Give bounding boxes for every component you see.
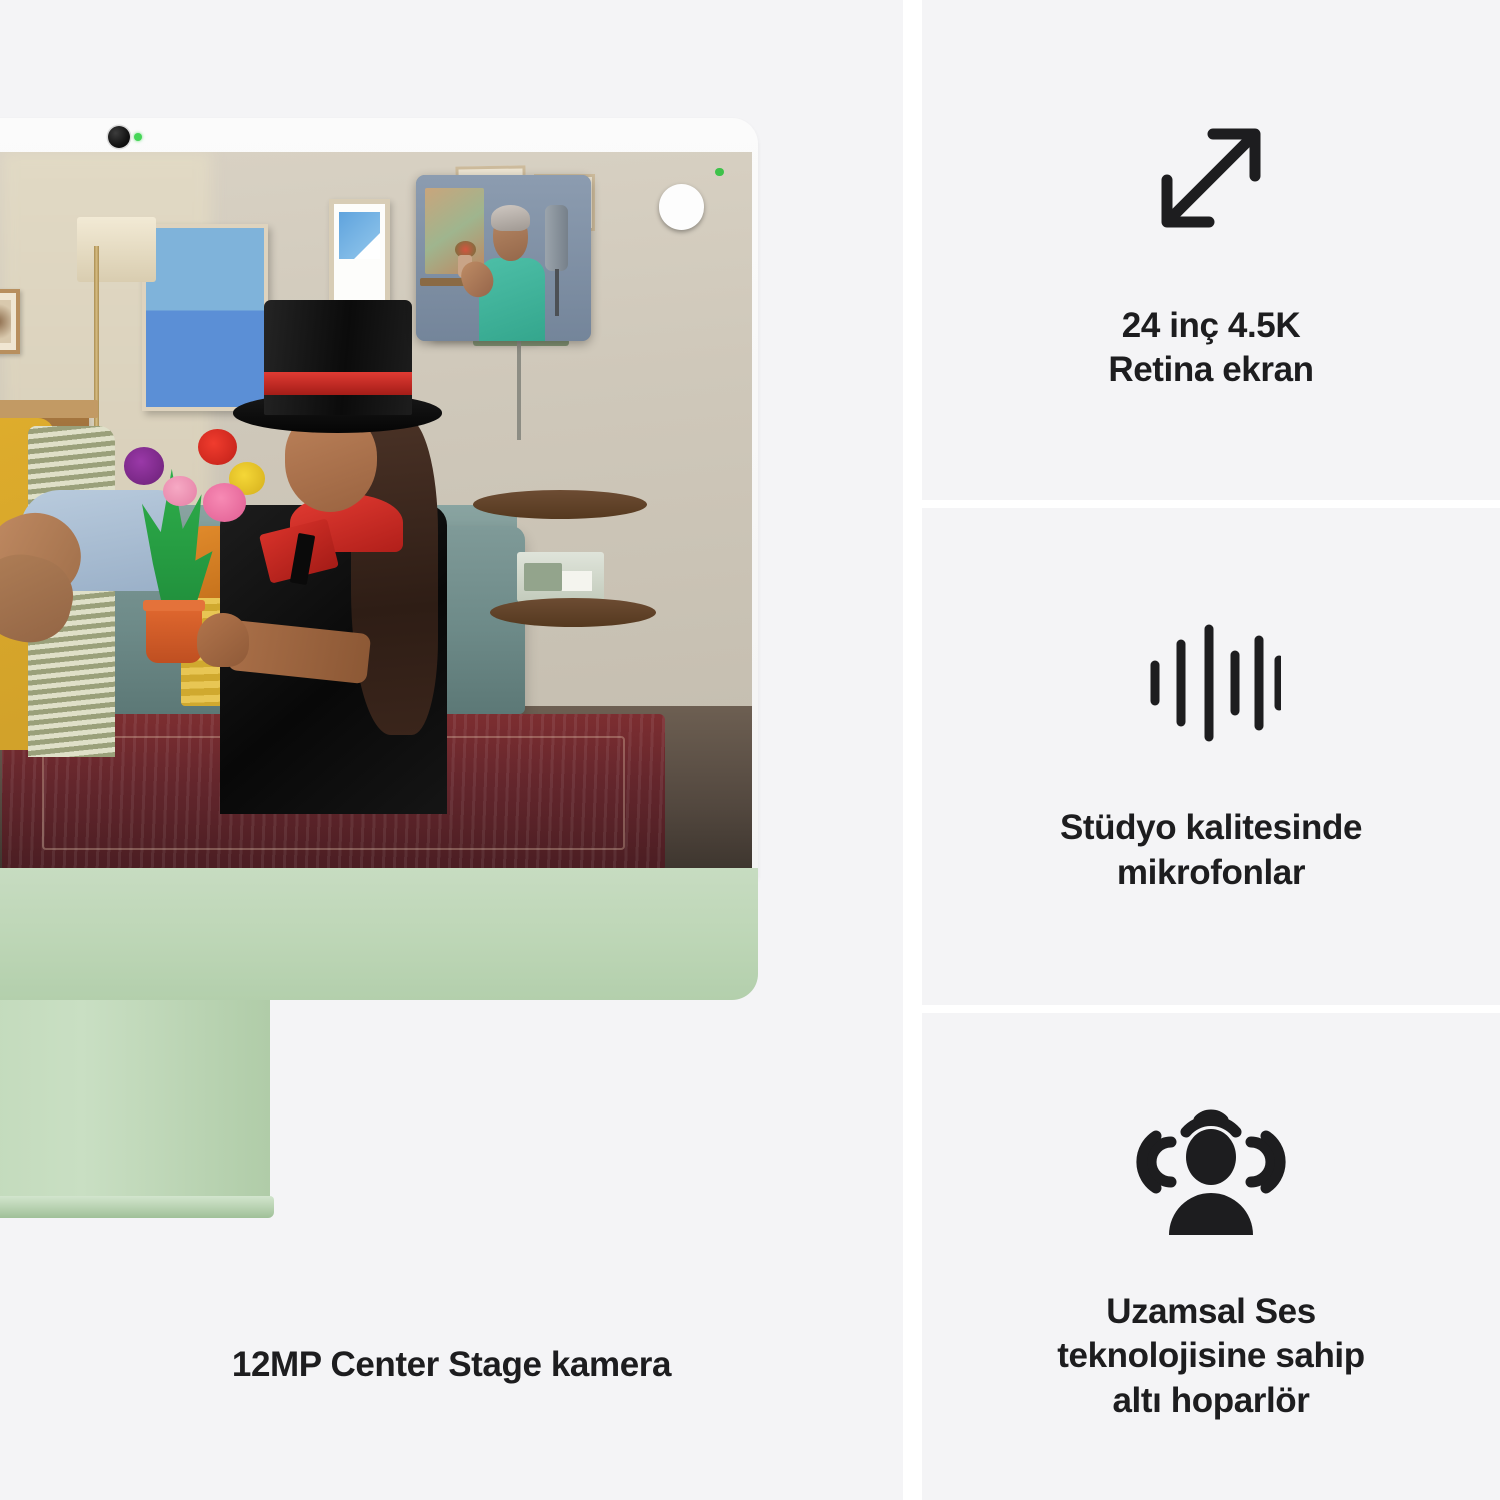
panel-display: 24 inç 4.5K Retina ekran xyxy=(922,0,1500,500)
pip-speaker xyxy=(545,205,568,271)
microphones-feature-line-1: Stüdyo kalitesinde xyxy=(1060,806,1362,850)
imac-bezel xyxy=(0,118,758,878)
display-feature-line-2: Retina ekran xyxy=(1108,348,1313,392)
diagonal-resize-arrow-icon xyxy=(1141,108,1281,248)
speakers-feature-line-3: altı hoparlör xyxy=(1057,1379,1364,1423)
pip-speaker-stand xyxy=(555,269,559,315)
vintage-radio xyxy=(517,552,604,602)
small-framed-art-1 xyxy=(0,289,20,354)
flower-red xyxy=(198,429,236,465)
facetime-video-scene xyxy=(0,152,752,872)
dresser-top xyxy=(0,400,98,418)
display-feature-line-1: 24 inç 4.5K xyxy=(1108,304,1313,348)
camera-dot-icon xyxy=(108,126,130,148)
pip-facetime-tile[interactable] xyxy=(416,175,590,341)
top-hat-red-band xyxy=(264,372,412,395)
audio-waveform-icon xyxy=(1141,618,1281,748)
speakers-feature-line-2: teknolojisine sahip xyxy=(1057,1334,1364,1378)
product-feature-grid: 12MP Center Stage kamera 24 inç 4.5K Ret… xyxy=(0,0,1500,1500)
white-framed-photo xyxy=(329,199,390,311)
floor-lamp-shade xyxy=(77,217,155,282)
panel-speakers: Uzamsal Ses teknolojisine sahip altı hop… xyxy=(922,1013,1500,1500)
microphones-feature-line-2: mikrofonlar xyxy=(1060,851,1362,895)
display-feature-text: 24 inç 4.5K Retina ekran xyxy=(1108,304,1313,392)
child-hand-holding-pot xyxy=(197,613,249,667)
flower-pink xyxy=(203,483,247,522)
imac-stand-foot xyxy=(0,1196,274,1218)
speakers-feature-text: Uzamsal Ses teknolojisine sahip altı hop… xyxy=(1057,1290,1364,1422)
microphones-feature-text: Stüdyo kalitesinde mikrofonlar xyxy=(1060,806,1362,894)
speakers-feature-line-1: Uzamsal Ses xyxy=(1057,1290,1364,1334)
top-hat-crown xyxy=(264,300,412,415)
camera-led-icon xyxy=(134,133,142,141)
panel-camera: 12MP Center Stage kamera xyxy=(0,0,903,1500)
flower-pink-small xyxy=(163,476,196,506)
flower-pot xyxy=(146,606,202,664)
pip-person-hair xyxy=(491,205,529,231)
panel-microphones: Stüdyo kalitesinde mikrofonlar xyxy=(922,508,1500,1005)
spatial-audio-person-icon xyxy=(1136,1090,1286,1240)
imac-screen xyxy=(0,152,752,872)
blue-canvas-art xyxy=(142,224,268,411)
imac-device xyxy=(0,118,760,1218)
dome-lamp-pole xyxy=(517,339,521,440)
imac-stand-neck xyxy=(0,1000,270,1210)
camera-caption: 12MP Center Stage kamera xyxy=(0,1345,903,1385)
facetime-round-button[interactable] xyxy=(659,184,704,229)
flower-purple xyxy=(124,447,164,484)
imac-chin xyxy=(0,868,758,1000)
side-table-lower xyxy=(490,598,656,627)
